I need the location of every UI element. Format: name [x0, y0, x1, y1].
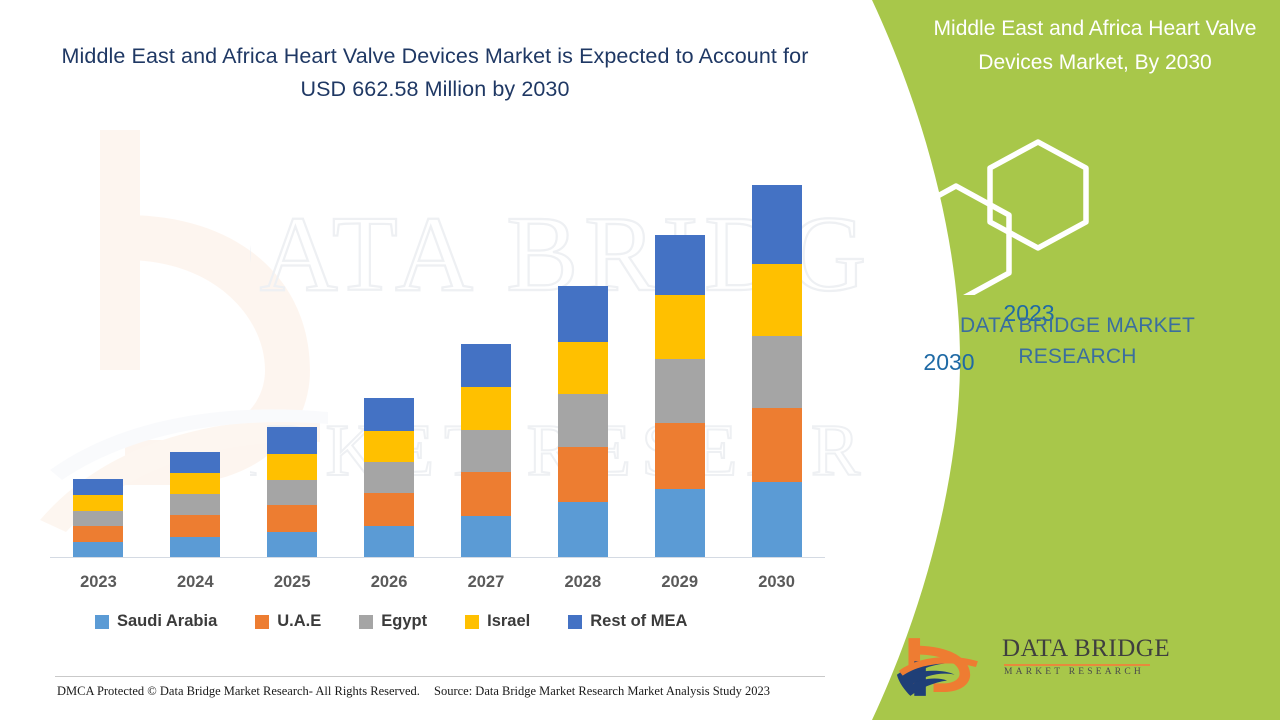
bar-segment-israel: [170, 473, 220, 494]
legend-swatch-icon: [568, 615, 582, 629]
page-title: Middle East and Africa Heart Valve Devic…: [40, 40, 830, 106]
bar-segment-egypt: [170, 494, 220, 514]
logo-subtitle: MARKET RESEARCH: [1004, 667, 1154, 677]
legend-label: Rest of MEA: [590, 612, 687, 631]
bar-segment-egypt: [364, 462, 414, 493]
brand-name: DATA BRIDGE MARKET RESEARCH: [900, 310, 1255, 372]
bar-segment-uae: [752, 408, 802, 482]
bar-2028[interactable]: [558, 286, 608, 558]
bar-segment-egypt: [558, 394, 608, 447]
chart-plot-area: [50, 170, 825, 558]
bar-segment-saudiarabia: [267, 532, 317, 558]
bar-2026[interactable]: [364, 398, 414, 558]
bar-segment-israel: [752, 264, 802, 336]
logo-mark-icon: [895, 632, 1001, 702]
legend-item-egypt[interactable]: Egypt: [359, 612, 427, 631]
x-tick-2023: 2023: [68, 573, 128, 592]
x-tick-2026: 2026: [359, 573, 419, 592]
bar-segment-egypt: [752, 336, 802, 409]
bar-segment-israel: [73, 495, 123, 510]
chart-legend: Saudi ArabiaU.A.EEgyptIsraelRest of MEA: [95, 612, 687, 631]
chart-x-axis: 20232024202520262027202820292030: [50, 570, 825, 600]
bar-segment-saudiarabia: [655, 489, 705, 558]
panel-title: Middle East and Africa Heart Valve Devic…: [920, 12, 1270, 80]
x-tick-2025: 2025: [262, 573, 322, 592]
hexagon-group: 2023 2030: [890, 130, 1150, 295]
dmca-notice: DMCA Protected © Data Bridge Market Rese…: [57, 684, 420, 699]
legend-swatch-icon: [95, 615, 109, 629]
bar-segment-restofmea: [558, 286, 608, 342]
legend-item-uae[interactable]: U.A.E: [255, 612, 321, 631]
bar-segment-uae: [73, 526, 123, 542]
bar-segment-uae: [267, 505, 317, 531]
bar-segment-restofmea: [752, 185, 802, 264]
x-tick-2024: 2024: [165, 573, 225, 592]
legend-item-israel[interactable]: Israel: [465, 612, 530, 631]
footer-divider: [55, 676, 825, 677]
hexagon-2030-shape: [903, 186, 1009, 295]
bar-segment-israel: [655, 295, 705, 359]
legend-swatch-icon: [359, 615, 373, 629]
legend-label: U.A.E: [277, 612, 321, 631]
logo-wordmark: DATA BRIDGE: [1002, 635, 1170, 663]
bar-segment-restofmea: [655, 235, 705, 296]
bar-segment-uae: [655, 423, 705, 490]
bar-segment-saudiarabia: [364, 526, 414, 558]
bar-segment-israel: [558, 342, 608, 395]
chart-baseline: [50, 557, 825, 558]
bar-segment-saudiarabia: [461, 516, 511, 558]
logo-rule: [1004, 664, 1150, 666]
bar-segment-saudiarabia: [170, 537, 220, 558]
bar-segment-uae: [364, 493, 414, 525]
bar-2030[interactable]: [752, 185, 802, 558]
bar-segment-israel: [461, 387, 511, 429]
data-bridge-logo: DATA BRIDGE MARKET RESEARCH: [890, 630, 1150, 702]
x-tick-2030: 2030: [747, 573, 807, 592]
bar-2025[interactable]: [267, 427, 317, 558]
bar-segment-uae: [558, 447, 608, 503]
bar-segment-restofmea: [461, 344, 511, 387]
bar-2027[interactable]: [461, 344, 511, 558]
bar-segment-egypt: [655, 359, 705, 423]
bar-2023[interactable]: [73, 479, 123, 558]
bar-segment-restofmea: [170, 452, 220, 473]
legend-swatch-icon: [255, 615, 269, 629]
x-tick-2029: 2029: [650, 573, 710, 592]
source-note: Source: Data Bridge Market Research Mark…: [434, 684, 770, 699]
bar-segment-restofmea: [267, 427, 317, 454]
legend-item-restofmea[interactable]: Rest of MEA: [568, 612, 687, 631]
bar-segment-uae: [170, 515, 220, 537]
bar-segment-saudiarabia: [558, 502, 608, 558]
bar-segment-restofmea: [364, 398, 414, 430]
bar-2024[interactable]: [170, 452, 220, 558]
legend-swatch-icon: [465, 615, 479, 629]
legend-item-saudiarabia[interactable]: Saudi Arabia: [95, 612, 217, 631]
bar-segment-egypt: [267, 480, 317, 505]
bar-2029[interactable]: [655, 235, 705, 558]
bar-segment-saudiarabia: [73, 542, 123, 558]
chart-panel: Middle East and Africa Heart Valve Devic…: [0, 0, 900, 720]
hexagon-outlines: [890, 130, 1150, 295]
bar-segment-saudiarabia: [752, 482, 802, 558]
bar-segment-egypt: [461, 430, 511, 472]
x-tick-2027: 2027: [456, 573, 516, 592]
bar-segment-israel: [267, 454, 317, 480]
bar-segment-uae: [461, 472, 511, 515]
legend-label: Israel: [487, 612, 530, 631]
bar-segment-egypt: [73, 511, 123, 526]
footer: DMCA Protected © Data Bridge Market Rese…: [0, 676, 900, 710]
bar-segment-israel: [364, 431, 414, 462]
legend-label: Saudi Arabia: [117, 612, 217, 631]
legend-label: Egypt: [381, 612, 427, 631]
green-panel-content: Middle East and Africa Heart Valve Devic…: [900, 0, 1280, 720]
hexagon-2023-shape: [990, 142, 1086, 248]
x-tick-2028: 2028: [553, 573, 613, 592]
bar-segment-restofmea: [73, 479, 123, 495]
